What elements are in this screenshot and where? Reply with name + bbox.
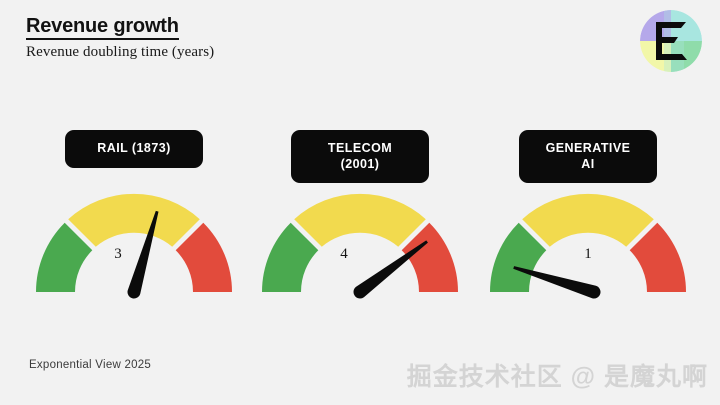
- gauge-value-rail: 3: [114, 246, 122, 262]
- page-subtitle: Revenue doubling time (years): [26, 44, 214, 61]
- gauge-arc-yellow: [522, 194, 654, 247]
- gauge-arc-yellow: [294, 194, 426, 247]
- gauge-label-rail: RAIL (1873): [65, 130, 203, 168]
- gauge-label-telecom: TELECOM (2001): [291, 130, 429, 183]
- gauge-value-generative-ai: 1: [584, 246, 592, 262]
- page-title: Revenue growth: [26, 16, 179, 40]
- gauge-telecom: 4: [244, 188, 476, 300]
- gauge-generative-ai: 1: [472, 188, 704, 300]
- gauge-label-generative-ai: GENERATIVE AI: [519, 130, 657, 183]
- gauge-value-telecom: 4: [340, 246, 348, 262]
- gauge-panel-generative-ai: GENERATIVE AI 1: [472, 130, 704, 320]
- gauge-panel-rail: RAIL (1873) 3: [18, 130, 250, 320]
- gauge-panel-telecom: TELECOM (2001) 4: [244, 130, 476, 320]
- slide-header: Revenue growth Revenue doubling time (ye…: [0, 0, 720, 78]
- source-note: Exponential View 2025: [29, 359, 151, 371]
- exponential-view-logo: [640, 10, 702, 72]
- watermark-text: 掘金技术社区 @ 是魔丸啊: [407, 357, 708, 393]
- slide-canvas: Revenue growth Revenue doubling time (ye…: [0, 0, 720, 405]
- gauge-arc-yellow: [68, 194, 200, 247]
- gauge-rail: 3: [18, 188, 250, 300]
- logo-icon: [640, 10, 702, 72]
